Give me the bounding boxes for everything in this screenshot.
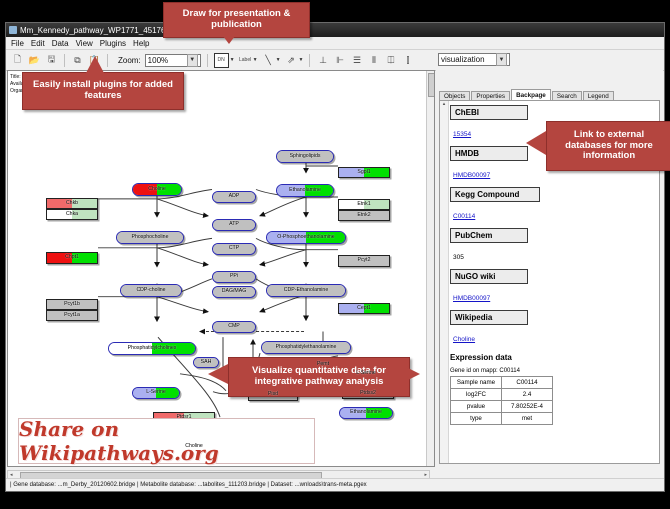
node-label: Phosphatidylethanolamine — [276, 345, 337, 350]
scroll-thumb[interactable] — [428, 73, 435, 97]
title-bar: Mm_Kennedy_pathway_WP1771_45176.gpml — [6, 23, 664, 37]
expr-key: type — [451, 413, 502, 425]
node-label: Phosphatidylcholines — [128, 346, 177, 351]
datanode-icon[interactable]: DN — [214, 53, 229, 68]
chevron-left-icon[interactable]: ◂ — [8, 472, 13, 478]
metabolite-node-phosphatidylethanolamine[interactable]: Phosphatidylethanolamine — [261, 341, 351, 354]
node-label: Ptdsr1 — [177, 415, 192, 420]
window-title: Mm_Kennedy_pathway_WP1771_45176.gpml — [20, 26, 185, 35]
callout-links-pointer — [526, 131, 546, 155]
node-label: Ptdss2 — [360, 391, 376, 396]
expr-value: 7.80252E-4 — [502, 401, 553, 413]
metabolite-node-cmp[interactable]: CMP — [212, 321, 256, 333]
metabolite-node-o-phosphoethanolamine[interactable]: O-Phosphoethanolamine — [266, 231, 346, 244]
gene-node-chpt1[interactable]: Chpt1 — [46, 252, 98, 264]
node-label: L-Serine — [356, 371, 376, 376]
db-link-chebi[interactable]: 15354 — [453, 131, 471, 138]
stack-icon[interactable]: ☰ — [350, 54, 363, 67]
backpage-scrollbar[interactable]: ▴ — [440, 101, 449, 463]
db-header-kegg: Kegg Compound — [450, 187, 540, 202]
gene-node-pcyt1a[interactable]: Pcyt1a — [46, 310, 98, 321]
screenshot-root: Mm_Kennedy_pathway_WP1771_45176.gpml Fil… — [0, 0, 670, 509]
metabolite-node-ethanolamine[interactable]: Ethanolamine — [276, 184, 334, 197]
db-link-hmdb[interactable]: HMDB00097 — [453, 172, 490, 179]
menu-item-file[interactable]: File — [11, 39, 24, 48]
interaction-icon[interactable]: ⇗ — [285, 54, 298, 67]
menu-item-data[interactable]: Data — [52, 39, 69, 48]
metabolite-node-phosphatidylcholines[interactable]: Phosphatidylcholines — [108, 342, 196, 355]
visualization-value: visualization — [441, 55, 496, 64]
layer-icon[interactable]: ⫿ — [401, 54, 414, 67]
canvas-info-title: Title: — [10, 74, 21, 80]
app-icon — [9, 26, 17, 34]
table-row: pvalue 7.80252E-4 — [451, 401, 553, 413]
db-link-wikipedia[interactable]: Choline — [453, 336, 475, 343]
node-label: Pcyt1b — [64, 302, 80, 307]
canvas-vertical-scrollbar[interactable] — [426, 71, 434, 466]
chevron-down-icon[interactable]: ▼ — [230, 57, 235, 63]
callout-links: Link to external databases for more info… — [546, 121, 670, 171]
metabolite-node-cdp-choline[interactable]: CDP-choline — [120, 284, 182, 297]
callout-draw-text: Draw for presentation & publication — [168, 9, 305, 30]
node-label: CMP — [228, 324, 240, 329]
db-header-nugo: NuGO wiki — [450, 269, 528, 284]
open-folder-icon[interactable]: 📂 — [28, 54, 41, 67]
node-label: Choline — [185, 444, 203, 449]
node-label: Chpt1 — [65, 255, 79, 260]
node-label: Sgpl1 — [357, 170, 370, 175]
chevron-down-icon[interactable]: ▼ — [253, 57, 258, 63]
node-label: Pcyt2 — [358, 258, 371, 263]
gene-node-etnk2[interactable]: Etnk2 — [338, 210, 390, 221]
zoom-combo[interactable]: 100% ▼ — [145, 54, 201, 67]
align-top-icon[interactable]: ⊥ — [316, 54, 329, 67]
zoom-label: Zoom: — [118, 56, 141, 65]
toolbar: 🗋 📂 🖫 ⧉ 📋 Zoom: 100% ▼ DN ▼ Label ▼ ╲ — [6, 50, 664, 71]
node-label: Ethanolamine — [350, 410, 382, 415]
metabolite-node-adp[interactable]: ADP — [212, 191, 256, 203]
datanode-tool[interactable]: DN ▼ — [214, 53, 235, 68]
toolbar-separator — [309, 54, 310, 67]
db-header-chebi: ChEBI — [450, 105, 528, 120]
line-icon[interactable]: ╲ — [262, 54, 275, 67]
share-banner: Share on Wikipathways.org — [18, 418, 315, 464]
share-banner-text: Share on Wikipathways.org — [19, 417, 314, 465]
node-label: DAG/MAG — [222, 289, 247, 294]
toolbar-separator — [207, 54, 208, 67]
table-row: Sample name C00114 — [451, 377, 553, 389]
node-label: Phosphocholine — [132, 235, 169, 240]
callout-quant-pointer-right — [400, 364, 420, 384]
gene-node-sgpl1[interactable]: Sgpl1 — [338, 167, 390, 178]
group-icon[interactable]: ⎅ — [384, 54, 397, 67]
table-row: log2FC 2.4 — [451, 389, 553, 401]
chevron-up-icon[interactable]: ▴ — [440, 101, 448, 107]
menu-item-plugins[interactable]: Plugins — [100, 39, 126, 48]
callout-plugins-pointer — [86, 56, 104, 73]
node-label: Etnk2 — [357, 213, 370, 218]
chevron-down-icon[interactable]: ▼ — [496, 53, 507, 66]
db-header-pubchem: PubChem — [450, 228, 528, 243]
node-label: PPi — [230, 274, 238, 279]
callout-plugins: Easily install plugins for added feature… — [22, 72, 184, 110]
pathway-canvas[interactable]: Title: Availa Organ — [7, 70, 435, 467]
status-bar: | Gene database: ...m_Derby_20120602.bri… — [6, 478, 664, 491]
node-label: Etnk1 — [357, 202, 370, 207]
line-tool[interactable]: ╲ ▼ — [262, 54, 281, 67]
node-label: CTP — [229, 246, 239, 251]
metabolite-node-ctp[interactable]: CTP — [212, 243, 256, 255]
expr-value: met — [502, 413, 553, 425]
label-tool[interactable]: Label ▼ — [239, 54, 258, 67]
menu-item-view[interactable]: View — [76, 39, 93, 48]
expr-key: pvalue — [451, 401, 502, 413]
table-row: type met — [451, 413, 553, 425]
align-left-icon[interactable]: ⊩ — [333, 54, 346, 67]
expression-table: Sample name C00114 log2FC 2.4 pvalue 7.8… — [450, 376, 553, 425]
visualization-combo[interactable]: visualization ▼ — [438, 53, 510, 66]
node-label: CDP-Ethanolamine — [284, 288, 328, 293]
metabolite-node-l-serine[interactable]: L-Serine — [132, 387, 180, 399]
node-label: SAH — [201, 360, 212, 365]
node-label: Ethanolamine — [289, 188, 321, 193]
callout-quant-text: Visualize quantitative data for integrat… — [233, 366, 405, 387]
node-label: Choline — [148, 187, 166, 192]
callout-draw-pointer — [220, 32, 238, 44]
metabolite-node-choline[interactable]: Choline — [132, 183, 182, 196]
metabolite-node-cdp-ethanolamine[interactable]: CDP-Ethanolamine — [266, 284, 346, 297]
expr-value: C00114 — [502, 377, 553, 389]
expr-key: Sample name — [451, 377, 502, 389]
distribute-icon[interactable]: ⦀ — [367, 54, 380, 67]
node-label: Sphingolipids — [290, 154, 321, 159]
copy-icon[interactable]: ⧉ — [71, 54, 84, 67]
node-label: ADP — [229, 194, 240, 199]
db-link-nugo[interactable]: HMDB00097 — [453, 295, 490, 302]
callout-quant-pointer-left — [208, 364, 228, 384]
expr-key: log2FC — [451, 389, 502, 401]
node-label: O-Phosphoethanolamine — [277, 235, 334, 240]
node-label: L-Serine — [146, 390, 166, 395]
callout-links-text: Link to external databases for more info… — [551, 130, 667, 162]
metabolite-node-dag-mag[interactable]: DAG/MAG — [212, 286, 256, 298]
toolbar-separator — [107, 54, 108, 67]
gene-node-chka[interactable]: Chka — [46, 209, 98, 220]
menu-item-edit[interactable]: Edit — [31, 39, 45, 48]
gene-node-cept1[interactable]: Cept1 — [338, 303, 390, 314]
node-label: Cept1 — [357, 306, 371, 311]
gene-node-pcyt1b[interactable]: Pcyt1b — [46, 299, 98, 310]
menu-bar: File Edit Data View Plugins Help — [6, 37, 664, 50]
label-icon[interactable]: Label — [239, 54, 252, 67]
metabolite-node-atp[interactable]: ATP — [212, 219, 256, 231]
gene-node-etnk1[interactable]: Etnk1 — [338, 199, 390, 210]
node-label: Chkb — [66, 201, 78, 206]
chevron-right-icon[interactable]: ▸ — [424, 472, 429, 478]
save-icon[interactable]: 🖫 — [45, 54, 58, 67]
expr-value: 2.4 — [502, 389, 553, 401]
metabolite-node-sphingolipids[interactable]: Sphingolipids — [276, 150, 334, 163]
db-link-kegg[interactable]: C00114 — [453, 213, 475, 220]
chevron-down-icon[interactable]: ▼ — [187, 54, 198, 67]
expression-data-heading: Expression data — [450, 353, 657, 362]
interaction-tool[interactable]: ⇗ ▼ — [285, 54, 304, 67]
db-value-pubchem: 305 — [453, 254, 464, 261]
node-label: CDP-choline — [136, 288, 165, 293]
node-label: ATP — [229, 222, 239, 227]
node-label: Pemt — [317, 362, 329, 367]
new-file-icon[interactable]: 🗋 — [11, 54, 24, 67]
node-label: Pcyt1a — [64, 313, 80, 318]
chevron-down-icon[interactable]: ▼ — [276, 57, 281, 63]
chevron-down-icon[interactable]: ▼ — [299, 57, 304, 63]
db-header-hmdb: HMDB — [450, 146, 528, 161]
node-label: Chka — [66, 212, 78, 217]
db-header-wikipedia: Wikipedia — [450, 310, 528, 325]
gene-id-line: Gene id on mapp: C00114 — [450, 368, 657, 374]
callout-plugins-text: Easily install plugins for added feature… — [27, 80, 179, 101]
metabolite-node-ppi[interactable]: PPi — [212, 271, 256, 283]
metabolite-node-ethanolamine[interactable]: Ethanolamine — [339, 407, 393, 419]
toolbar-separator — [64, 54, 65, 67]
gene-node-chkb[interactable]: Chkb — [46, 198, 98, 209]
gene-node-pcyt2[interactable]: Pcyt2 — [338, 255, 390, 267]
status-text: | Gene database: ...m_Derby_20120602.bri… — [10, 482, 367, 488]
menu-item-help[interactable]: Help — [133, 39, 149, 48]
node-label: Pisd — [268, 392, 278, 397]
zoom-value: 100% — [148, 56, 187, 65]
metabolite-node-phosphocholine[interactable]: Phosphocholine — [116, 231, 184, 244]
